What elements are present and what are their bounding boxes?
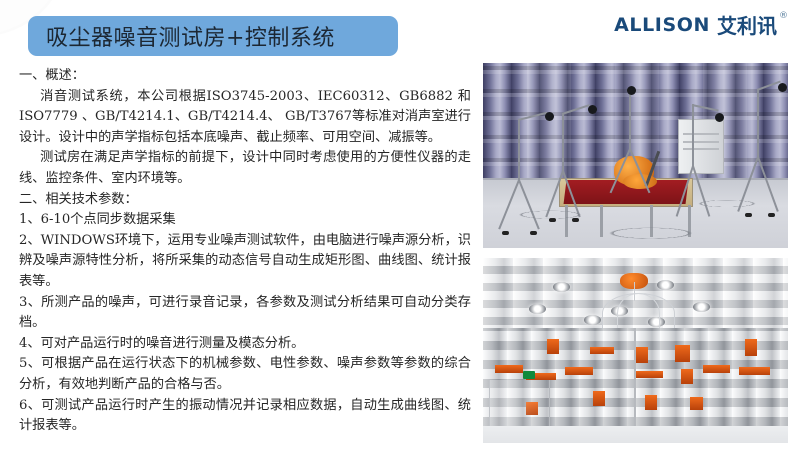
chamber-floor <box>483 426 788 443</box>
registered-trademark-icon: ® <box>779 11 788 21</box>
orange-wedge-accent <box>636 347 648 364</box>
wall-corner-line <box>634 328 636 435</box>
orange-wedge-accent <box>745 339 757 356</box>
orange-wedge-accent <box>675 345 690 362</box>
section2-heading: 二、相关技术参数： <box>19 190 471 211</box>
spec-item: 4、可对产品运行时的噪音进行测量及模态分析。 <box>19 334 471 355</box>
spec-item: 6、可测试产品运行时产生的振动情况并记录相应数据，自动生成曲线图、统计报表等。 <box>19 396 471 437</box>
orange-wedge-accent <box>590 347 614 354</box>
logo-english-text: ALLISON <box>614 16 710 35</box>
photo-anechoic-chamber-vacuum-test <box>483 63 788 248</box>
allison-logo: ALLISON 艾利讯 ® <box>614 16 788 36</box>
orange-wedge-accent <box>495 365 522 372</box>
section1-heading: 一、概述： <box>19 66 471 87</box>
orange-wedge-accent <box>593 391 605 406</box>
orange-wedge-accent <box>703 365 730 372</box>
emergency-exit-sign-icon <box>523 371 535 379</box>
spec-item: 1、6-10个点同步数据采集 <box>19 210 471 231</box>
photo-anechoic-chamber-interior <box>483 258 788 443</box>
orange-wedge-accent <box>636 371 663 378</box>
orange-wedge-accent <box>547 339 559 354</box>
spec-item: 5、可根据产品在运行状态下的机械参数、电性参数、噪声参数等参数的综合分析，有效地… <box>19 354 471 395</box>
orange-wedge-accent <box>739 367 770 374</box>
orange-wedge-accent <box>690 397 702 410</box>
signal-cables <box>483 174 788 248</box>
slide-title-banner: 吸尘器噪音测试房+控制系统 <box>28 16 398 56</box>
orange-wedge-accent <box>645 395 657 410</box>
acoustic-wedge-wall-right <box>636 328 789 435</box>
spec-item: 2、WINDOWS环境下，运用专业噪声测试软件，由电脑进行噪声源分析，识辨及噪声… <box>19 231 471 293</box>
spec-item: 3、所测产品的噪声，可进行录音记录，各参数及测试分析结果可自动分类存档。 <box>19 293 471 334</box>
section1-paragraph-1: 消音测试系统，本公司根据ISO3745-2003、IEC60312、GB6882… <box>19 87 471 149</box>
orange-wedge-accent <box>681 369 693 384</box>
page-title: 吸尘器噪音测试房+控制系统 <box>28 20 335 52</box>
chamber-purple-illustration <box>483 63 788 248</box>
orange-wedge-accent <box>565 367 592 374</box>
section1-paragraph-2: 测试房在满足声学指标的前提下，设计中同时考虑使用的方便性仪器的走线、监控条件、室… <box>19 148 471 189</box>
slide-root: 吸尘器噪音测试房+控制系统 ALLISON 艾利讯 ® 一、概述： 消音测试系统… <box>0 0 800 450</box>
chamber-grey-illustration <box>483 258 788 443</box>
logo-chinese-text: 艾利讯 <box>717 16 777 36</box>
body-content: 一、概述： 消音测试系统，本公司根据ISO3745-2003、IEC60312、… <box>19 66 471 437</box>
